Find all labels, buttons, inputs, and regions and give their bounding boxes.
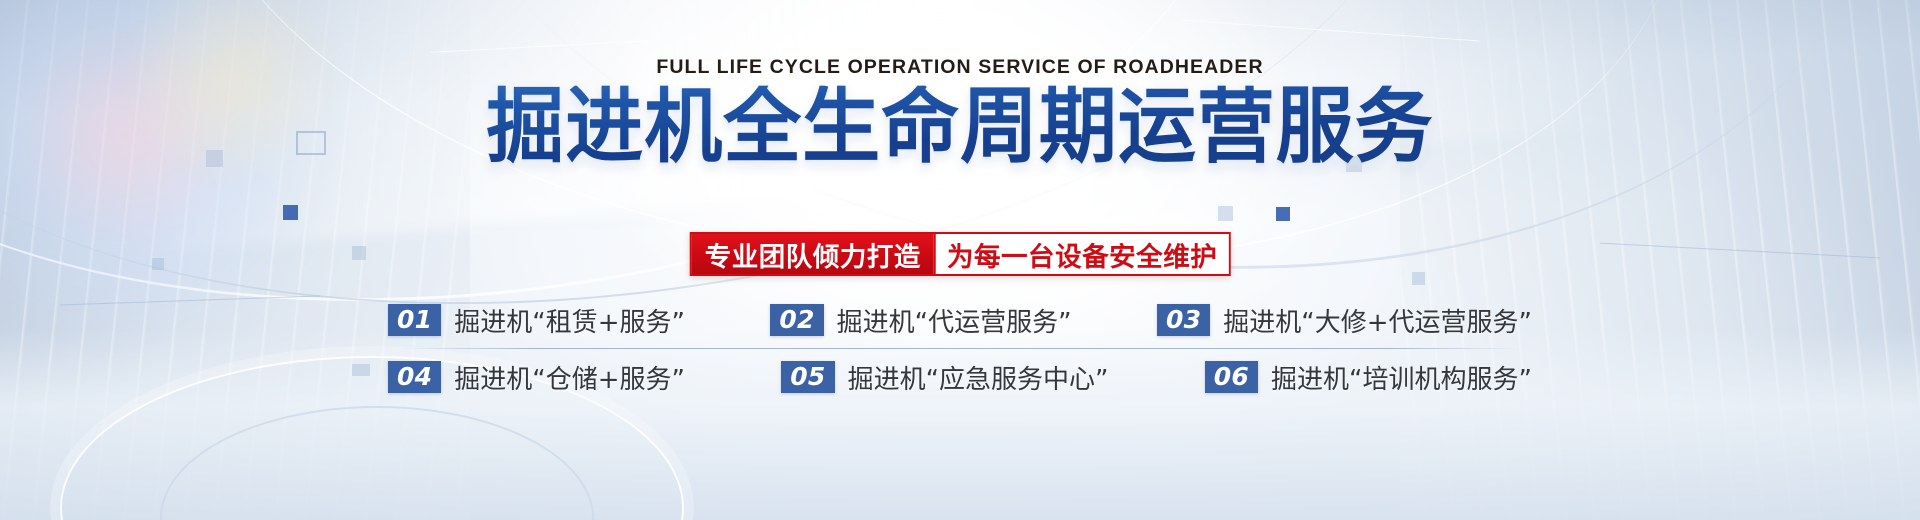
service-item-label: 掘进机“仓储+服务”	[454, 359, 685, 396]
tagline-ribbon: 专业团队倾力打造 为每一台设备安全维护	[690, 232, 1231, 276]
banner-eyebrow-text: FULL LIFE CYCLE OPERATION SERVICE OF ROA…	[0, 56, 1920, 79]
banner-headline: 掘进机全生命周期运营服务	[0, 86, 1920, 169]
service-number-badge: 06	[1205, 361, 1258, 394]
service-number-badge: 05	[781, 361, 834, 394]
service-number-badge: 02	[770, 304, 823, 337]
promo-banner: FULL LIFE CYCLE OPERATION SERVICE OF ROA…	[0, 0, 1920, 520]
service-number-badge: 03	[1157, 304, 1210, 337]
service-item-label: 掘进机“租赁+服务”	[454, 302, 685, 339]
service-number-badge: 04	[388, 361, 441, 394]
service-item-label: 掘进机“培训机构服务”	[1271, 359, 1532, 396]
service-item-label: 掘进机“大修+代运营服务”	[1223, 302, 1532, 339]
banner-content: FULL LIFE CYCLE OPERATION SERVICE OF ROA…	[0, 0, 1920, 520]
service-item-02[interactable]: 02 掘进机“代运营服务”	[770, 302, 1071, 339]
service-item-label: 掘进机“代运营服务”	[837, 302, 1072, 339]
service-item-01[interactable]: 01 掘进机“租赁+服务”	[388, 302, 685, 339]
tagline-primary: 专业团队倾力打造	[692, 234, 934, 274]
service-item-06[interactable]: 06 掘进机“培训机构服务”	[1205, 359, 1532, 396]
service-item-05[interactable]: 05 掘进机“应急服务中心”	[781, 359, 1108, 396]
service-row-bottom: 04 掘进机“仓储+服务” 05 掘进机“应急服务中心” 06 掘进机“培训机构…	[370, 349, 1550, 405]
service-number-badge: 01	[388, 304, 441, 337]
service-item-03[interactable]: 03 掘进机“大修+代运营服务”	[1157, 302, 1532, 339]
service-item-label: 掘进机“应急服务中心”	[848, 359, 1109, 396]
service-row-top: 01 掘进机“租赁+服务” 02 掘进机“代运营服务” 03 掘进机“大修+代运…	[370, 292, 1550, 348]
service-item-04[interactable]: 04 掘进机“仓储+服务”	[388, 359, 685, 396]
service-list: 01 掘进机“租赁+服务” 02 掘进机“代运营服务” 03 掘进机“大修+代运…	[370, 292, 1550, 405]
tagline-secondary: 为每一台设备安全维护	[934, 234, 1228, 274]
